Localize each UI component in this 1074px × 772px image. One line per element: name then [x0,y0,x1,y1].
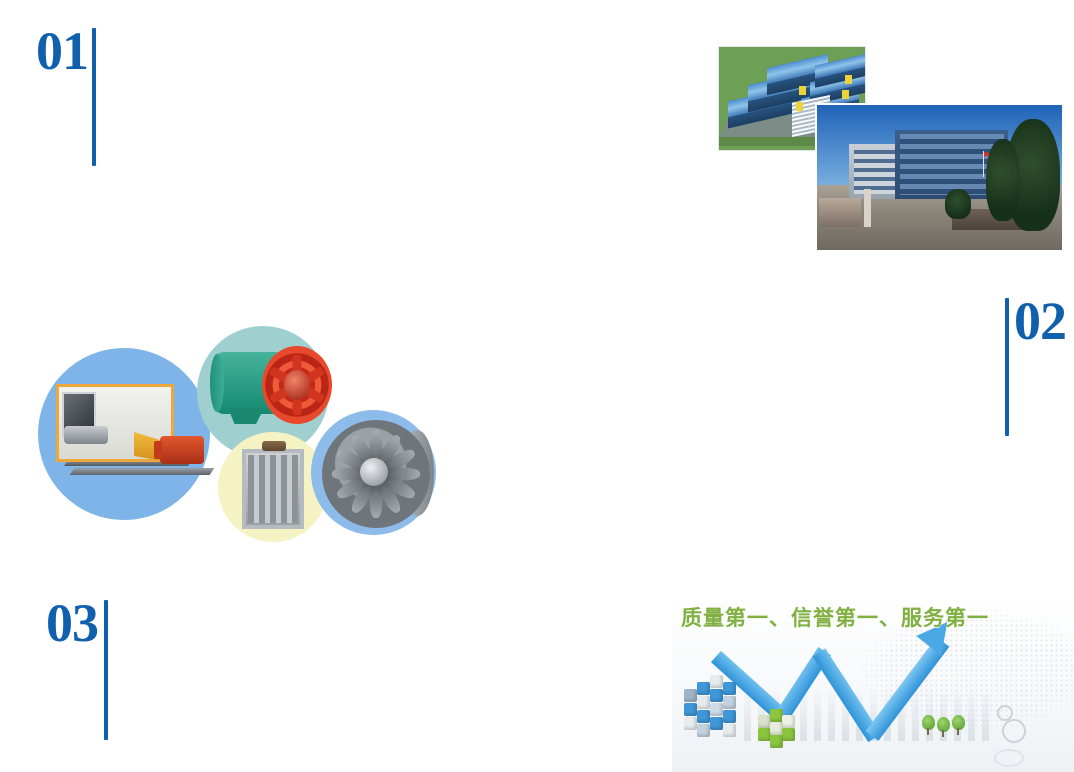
flag-pole [983,151,984,177]
tree-icon [937,717,950,732]
bubble-circle [994,749,1024,767]
section-number-01: 01 [36,26,88,76]
blue-cube-cluster [684,675,754,737]
cube [697,696,710,709]
section-number-02: 02 [1014,296,1066,346]
photo-gate-post [864,189,871,227]
cube [723,682,736,695]
section-rule-02 [1005,298,1009,436]
section-marker-02: 02 [1005,296,1066,436]
fan-impeller [64,426,108,444]
metal-fan-hub [360,458,388,486]
axial-fan-foot [228,408,264,424]
cube [710,675,723,688]
product-axial-flow-fan [214,346,332,442]
cube [684,689,697,702]
fan-motor [160,436,204,464]
render-marker-tag [796,102,803,111]
cube [710,703,723,716]
cube [723,696,736,709]
product-metal-blade-fan [322,420,430,528]
growth-arrow-banner: 质量第一、信誉第一、服务第一 [672,597,1074,772]
photo-tree [986,139,1020,221]
product-air-damper-valve [242,449,304,529]
page-root: 01 [0,0,1074,772]
cube [697,710,710,723]
render-marker-tag [842,90,849,99]
cube [697,724,710,737]
green-cube-cluster [758,707,798,743]
cube [782,728,795,741]
axial-fan-hub [284,370,310,400]
photo-shrub [945,189,971,219]
banner-slogan: 质量第一、信誉第一、服务第一 [681,605,989,631]
tree-icon [922,715,935,730]
photo-windows [854,150,897,194]
section-rule-01 [92,28,96,166]
cube [710,689,723,702]
cube [723,710,736,723]
section-marker-03: 03 [46,598,108,740]
product-cabinet-centrifugal-fan [56,376,216,494]
product-collage [34,324,424,554]
photo-gatehouse [819,198,861,227]
damper-actuator [262,441,286,451]
cube [710,717,723,730]
cube [782,715,795,728]
cube [684,717,697,730]
section-rule-03 [104,600,108,740]
fan-base-rail [70,468,215,475]
cube [684,703,697,716]
render-marker-tag [799,86,806,95]
cube [697,682,710,695]
damper-blades [248,455,298,523]
render-marker-tag [845,75,852,84]
office-building-photo [815,103,1064,252]
tree-icon [952,715,965,730]
section-number-03: 03 [46,598,98,648]
cube [770,735,783,748]
bubble-circle [1002,719,1026,743]
section-marker-01: 01 [36,26,96,166]
cube [723,724,736,737]
